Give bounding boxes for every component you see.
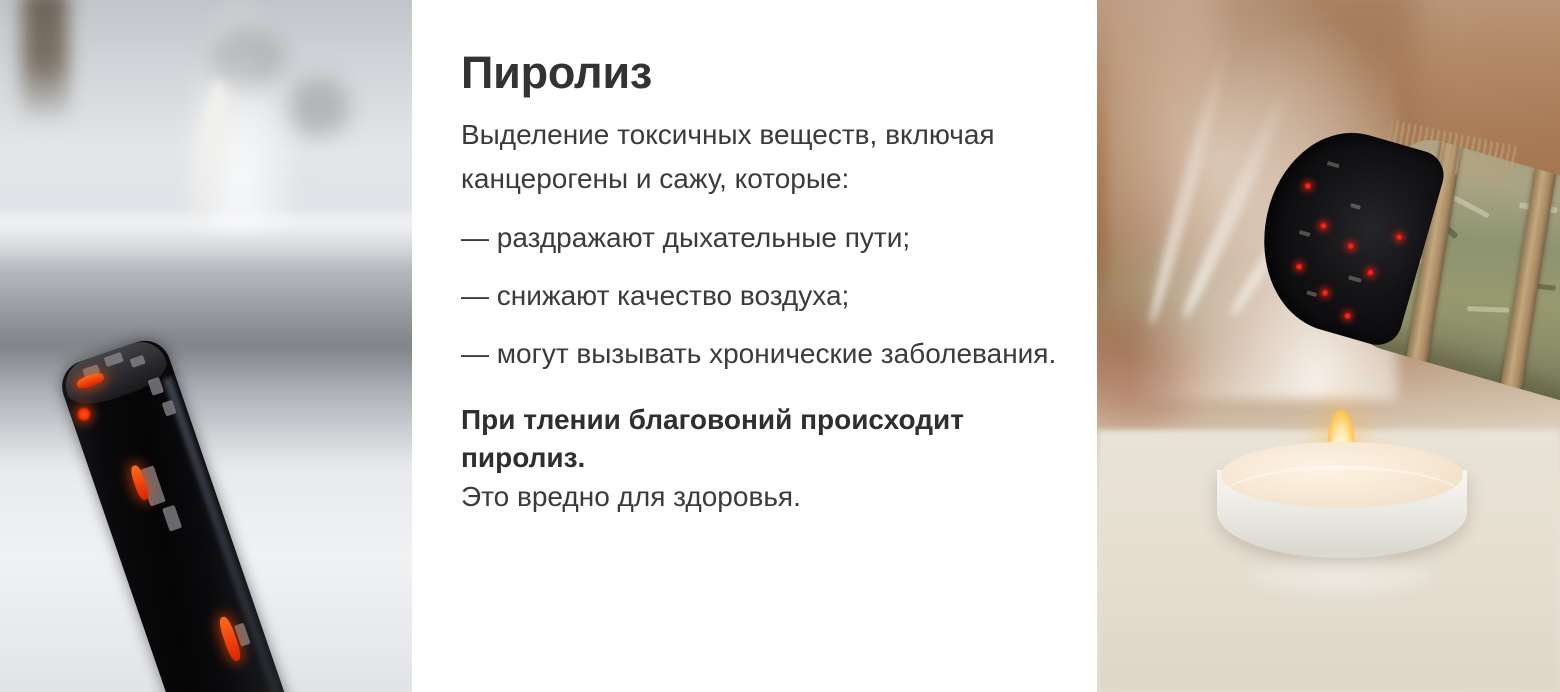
list-item: — снижают качество воздуха; [461,277,1057,315]
page-title: Пиролиз [461,50,1057,95]
ember-glow [1321,288,1330,297]
conclusion-block: При тлении благовоний происходит пиролиз… [461,401,1057,516]
list-item: — раздражают дыхательные пути; [461,219,1057,257]
sage-leaf [1452,195,1490,218]
left-image-panel [0,0,412,692]
effects-list: — раздражают дыхательные пути; — снижают… [461,219,1057,372]
content-panel: Пиролиз Выделение токсичных веществ, вкл… [412,0,1097,692]
sage-leaf [1467,306,1509,312]
left-background-post [22,0,68,120]
tealight-rim-highlight [1217,466,1467,536]
conclusion-note: Это вредно для здоровья. [461,478,1057,516]
tealight-reflection [1247,556,1437,596]
tealight-candle [1217,436,1467,566]
ember-glow [75,405,93,423]
ember-glow [1319,221,1328,230]
ember-glow [1343,312,1352,321]
ash-fleck [147,377,164,396]
ash-fleck [162,505,182,532]
ember-glow [1303,182,1312,191]
ember-glow [1347,242,1356,251]
intro-paragraph: Выделение токсичных веществ, включая кан… [461,113,1057,201]
ember-glow [1395,233,1404,242]
char-fleck [1299,230,1311,237]
list-item: — могут вызывать хронические заболевания… [461,335,1057,373]
ember-glow [1366,268,1375,277]
char-fleck [1327,161,1340,168]
twine-wrap [1500,163,1558,394]
ember-glow [1295,262,1304,271]
right-image-panel [1097,0,1560,692]
char-fleck [1348,275,1362,282]
conclusion-statement: При тлении благовоний происходит пиролиз… [461,401,1057,477]
char-fleck [1306,290,1317,297]
slide-root: Пиролиз Выделение токсичных веществ, вкл… [0,0,1560,692]
char-fleck [1350,203,1361,210]
